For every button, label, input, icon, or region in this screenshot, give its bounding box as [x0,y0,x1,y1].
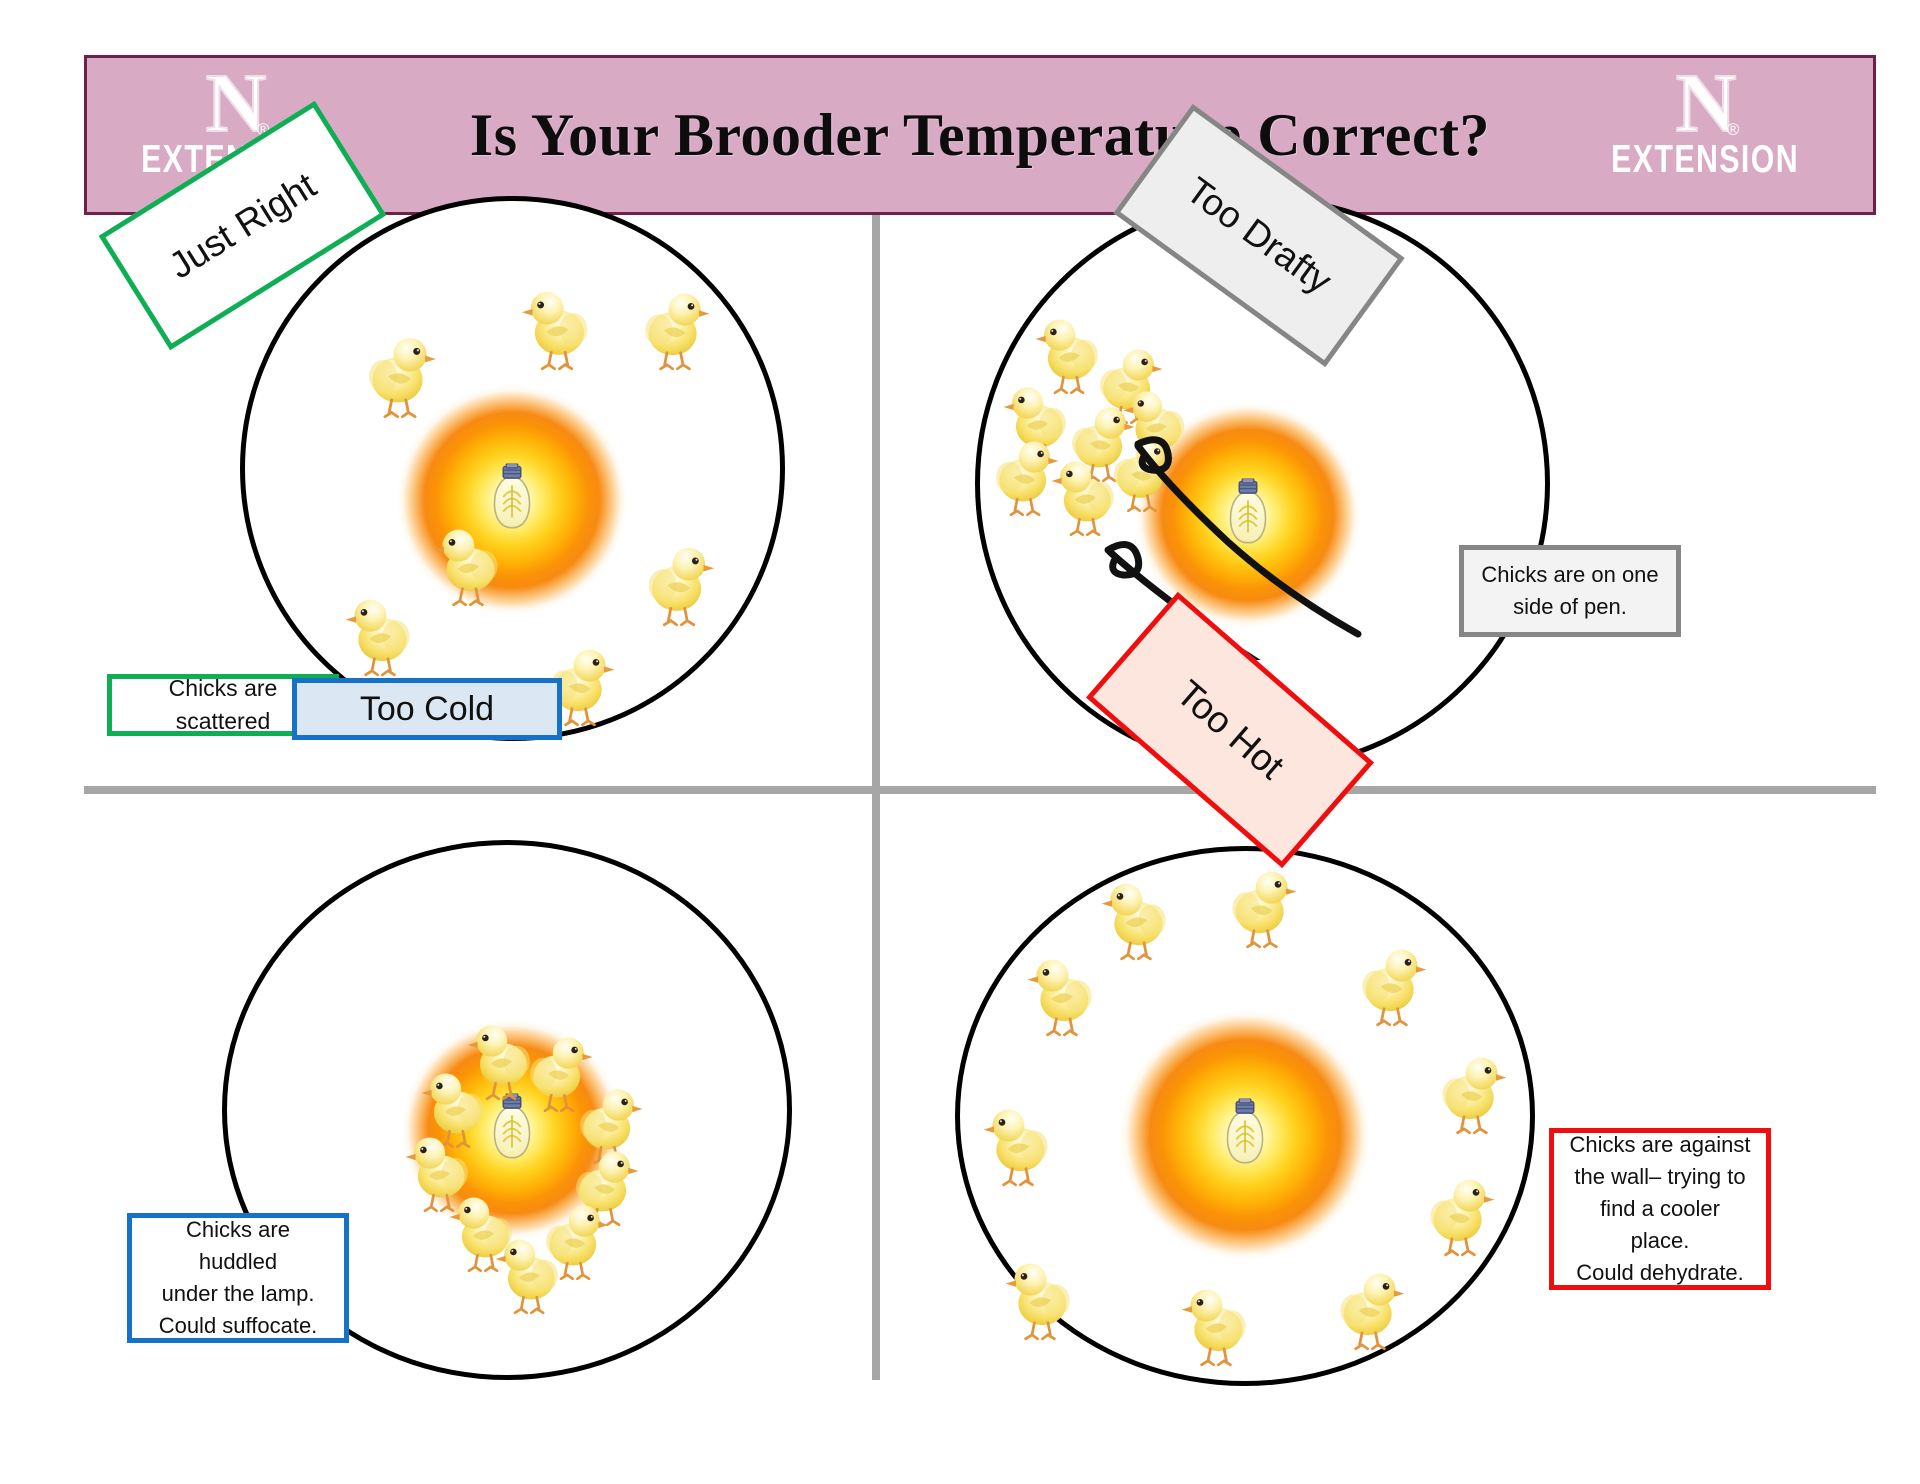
caption-line: side of pen. [1513,591,1627,623]
caption-line: under the lamp. [162,1278,315,1310]
caption-line: Could dehydrate. [1576,1257,1744,1289]
caption-too-hot: Chicks are against the wall– trying to f… [1549,1128,1771,1290]
label-too-hot-text: Too Hot [1168,672,1292,787]
horizontal-divider [84,786,1876,794]
caption-too-drafty: Chicks are on one side of pen. [1459,545,1681,637]
caption-line: the wall– trying to [1574,1161,1745,1193]
label-just-right-text: Just Right [162,164,324,287]
label-too-cold-text: Too Cold [360,690,494,729]
caption-line: Chicks are huddled [146,1214,330,1278]
caption-line: Could suffocate. [159,1310,318,1342]
caption-line: find a cooler place. [1568,1193,1752,1257]
caption-line: Chicks are on one [1481,559,1658,591]
brooder-pen-too-hot [955,846,1535,1386]
caption-too-cold: Chicks are huddled under the lamp. Could… [127,1213,349,1343]
page-title: Is Your Brooder Temperature Correct? [470,101,1490,170]
caption-line: Chicks are scattered [126,672,320,739]
vertical-divider [872,215,880,1380]
label-too-cold: Too Cold [292,678,562,740]
infographic-canvas: Is Your Brooder Temperature Correct? N ®… [0,0,1920,1484]
caption-line: Chicks are against [1570,1129,1751,1161]
brooder-pen-just-right [240,196,785,741]
